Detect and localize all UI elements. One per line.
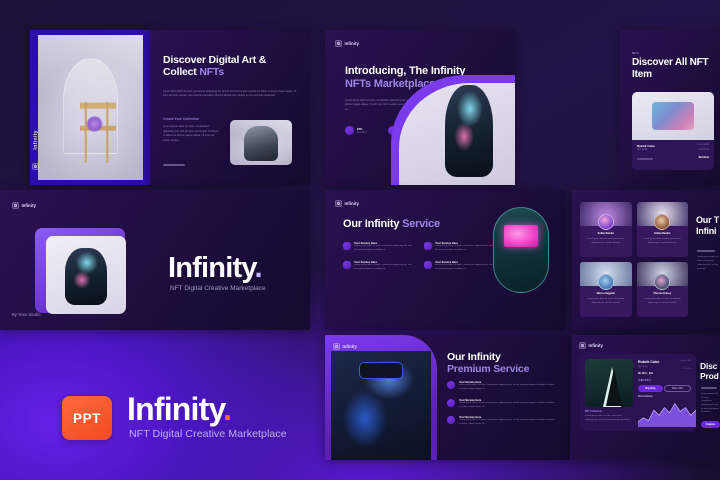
chair-photo [80, 102, 116, 163]
stat-item: ETH Eco Item [345, 126, 366, 135]
testimonial-name: Marco Anggarai [580, 292, 632, 295]
testimonial-grid: Sofian Rendra Lorem ipsum dolor sit amet… [580, 202, 688, 317]
slide-title: Infinity. [168, 252, 262, 285]
chip-icon [424, 261, 432, 269]
nft-card-subtitle: NFT Artist [637, 149, 647, 151]
brand-name-text: Infinity [127, 391, 223, 427]
feature-body: Lorem ipsum dolor sit amet, consectetur … [354, 245, 412, 253]
divider [697, 250, 715, 252]
slide-kicker: NFTs [632, 51, 639, 55]
slide-our-service[interactable]: Infinity Our Infinity Service Your Servi… [325, 190, 565, 330]
heading-line-2: Item [632, 69, 652, 80]
heading-part-a: Our Infinity [447, 351, 501, 363]
feature-item: Your Service Here Lorem ipsum dolor sit … [343, 242, 412, 253]
slide-logo: Infinity [335, 200, 359, 207]
logo-text: Infinity [345, 201, 360, 206]
avatar [598, 274, 614, 290]
feature-item: Your Service Here Lorem ipsum dolor sit … [343, 261, 412, 272]
slide-discover-digital-art[interactable]: Discover Digital Art & Collect NFTs Lore… [150, 30, 310, 185]
heading-line-1: Disc [700, 361, 717, 371]
heading-part-b: Service [402, 218, 440, 230]
slide-heading: Our T Infini [696, 215, 719, 236]
heading-line-1: Discover Digital Art & [163, 54, 266, 66]
heading-line-1: Introducing, The Infinity [345, 65, 465, 77]
logo-text: Infinity [22, 203, 37, 208]
heading-line-2: Prod [700, 371, 719, 381]
divider [163, 164, 185, 166]
testimonial-name: Sofian Rendra [637, 232, 689, 235]
slide-logo: Infinity [12, 202, 36, 209]
product-price-secondary: 0.82 ETH [682, 368, 691, 370]
stat-value: Eco Item [357, 131, 366, 134]
heading-line-2a: Collect [163, 66, 199, 78]
product-timer: 0h 12m : 20s [638, 372, 653, 375]
product-price: 0.82 ETH [638, 378, 651, 382]
avatar [654, 274, 670, 290]
testimonial-card[interactable]: Sofian Rendra Lorem ipsum dolor sit amet… [580, 202, 632, 257]
nft-card[interactable]: Rubrik Cube NFT Artist Current Bid 0.82 … [632, 92, 714, 170]
nft-card-image [632, 92, 714, 140]
slide-logo: Infinity [335, 40, 359, 47]
feature-item: Your Service Here Lorem ipsum dolor sit … [424, 261, 493, 272]
slide-heading: Discover All NFT Item [632, 57, 720, 81]
divider [637, 158, 653, 160]
vr-headset [359, 362, 403, 379]
nft-card-price: 0.82 ETH [699, 149, 709, 151]
slide-logo: Infinity [579, 342, 603, 349]
features-grid: Your Service Here Lorem ipsum dolor sit … [343, 242, 493, 271]
slide-heading: Our Infinity Premium Service [447, 351, 529, 376]
ppt-badge: PPT [62, 396, 112, 440]
nft-preview-card[interactable] [46, 236, 126, 314]
slide-cover-art[interactable]: Infinity [30, 30, 150, 185]
feature-body: Lorem ipsum dolor sit amet, consectetur … [435, 245, 493, 253]
heading-line-2b: NFTs [199, 66, 224, 78]
title-text: Infinity [168, 252, 255, 284]
heading-part-b: Premium Service [447, 363, 529, 375]
feature-body: Lorem ipsum dolor sit amet, consectetur … [435, 264, 493, 272]
slide-heading: Disc Prod [700, 361, 719, 381]
ethereum-icon [345, 126, 354, 135]
nft-thumbnail[interactable] [230, 120, 292, 165]
infinity-logo-icon [333, 343, 340, 350]
product-price-label: Current Bid [680, 360, 691, 362]
testimonial-name: Sofian Rendra [580, 232, 632, 235]
testimonial-card[interactable]: Theresa Grassy Lorem ipsum dolor sit ame… [637, 262, 689, 317]
testimonial-body: Lorem ipsum dolor sit amet, consectetur … [641, 298, 685, 305]
testimonial-name: Theresa Grassy [637, 292, 689, 295]
logo-text: Infinity [343, 344, 358, 349]
nft-card-action[interactable]: Bid Now [699, 156, 709, 159]
product-artist: NFT Artist [638, 366, 648, 368]
arcade-screen [504, 225, 539, 247]
infinity-logo-icon [32, 163, 39, 170]
nft-card-name: Rubrik Cube [637, 144, 655, 148]
feature-item: Your Service Here Lorem ipsum dolor sit … [424, 242, 493, 253]
crown-icon [424, 242, 432, 250]
testimonial-body: Lorem ipsum dolor sit amet, consectetur … [641, 238, 685, 245]
avatar [654, 214, 670, 230]
poster-canvas: Infinity Discover Digital Art & Collect … [0, 0, 720, 480]
product-name: Rubrik Cube [638, 360, 659, 364]
infinity-logo-icon [579, 342, 586, 349]
vertical-brand-label: Infinity [33, 130, 39, 150]
slide-discover-all-nft[interactable]: NFTs Discover All NFT Item Rubrik Cube N… [620, 30, 720, 185]
arcade-machine-photo [493, 207, 549, 293]
testimonial-body: Lorem ipsum dolor sit amet, consectetur … [584, 238, 628, 245]
slide-subtitle: NFT Digital Creative Marketplace [170, 285, 266, 292]
title-dot: . [255, 252, 262, 284]
heading-line-2: Infini [696, 226, 716, 236]
nft-bust-photo [65, 248, 107, 304]
section-kicker: Create Your Collection [163, 117, 199, 121]
slide-heading: Discover Digital Art & Collect NFTs [163, 54, 298, 79]
testimonial-card[interactable]: Marco Anggarai Lorem ipsum dolor sit ame… [580, 262, 632, 317]
banner-brand-name: Infinity. [127, 391, 231, 428]
slide-logo [32, 163, 39, 170]
nft-bust-photo [445, 85, 493, 177]
infinity-logo-icon [335, 40, 342, 47]
brand-name-dot: . [223, 391, 231, 427]
nft-card-price-label: Current Bid [697, 144, 709, 146]
card-icon [343, 261, 351, 269]
testimonial-card[interactable]: Sofian Rendra Lorem ipsum dolor sit amet… [637, 202, 689, 257]
ppt-badge-label: PPT [73, 411, 101, 426]
slide-footer: By Yeen Studio [12, 312, 40, 317]
feature-body: Lorem ipsum dolor sit amet, consectetur … [354, 264, 412, 272]
section-body: Lorem ipsum dolor sit amet, consectetur … [163, 125, 221, 143]
avatar [598, 214, 614, 230]
slide-logo: Infinity [333, 343, 357, 350]
slide-heading: Our Infinity Service [343, 218, 440, 231]
infinity-logo-icon [335, 200, 342, 207]
slide-body-text: Lorem ipsum dolor sit amet, consectetur … [163, 90, 297, 98]
slide-body-text: Lorem ipsum dolor sit amet, consectetur … [697, 256, 719, 271]
banner-tagline: NFT Digital Creative Marketplace [129, 428, 287, 440]
slide-introducing[interactable]: Infinity Introducing, The Infinity NFTs … [325, 30, 515, 185]
testimonial-body: Lorem ipsum dolor sit amet, consectetur … [584, 298, 628, 305]
infinity-logo-icon [12, 202, 19, 209]
heading-part-a: Our Infinity [343, 218, 402, 230]
logo-text: Infinity [589, 343, 604, 348]
heading-line-1: Our T [696, 215, 719, 225]
wallet-icon [343, 242, 351, 250]
slide-title-infinity[interactable]: Infinity Infinity. NFT Digital Creative … [0, 190, 310, 330]
slide-testimonials[interactable]: Sofian Rendra Lorem ipsum dolor sit amet… [572, 190, 720, 330]
logo-text: Infinity [345, 41, 360, 46]
heading-line-1: Discover All NFT [632, 57, 708, 68]
